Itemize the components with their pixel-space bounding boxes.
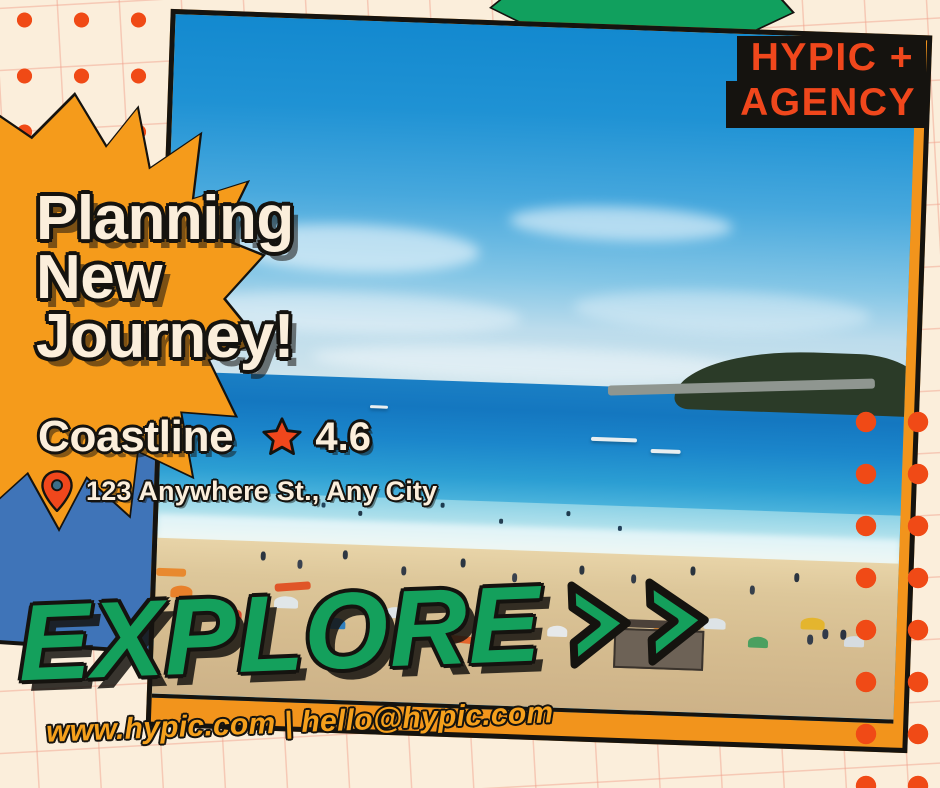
headline-line-1: Planning: [36, 190, 294, 249]
rating-value: 4.6: [315, 415, 371, 460]
explore-label: EXPLORE: [16, 569, 543, 697]
photo-person: [342, 551, 347, 560]
photo-person: [807, 635, 813, 645]
travel-poster: HYPIC + AGENCY Planning New Journey! Coa…: [0, 0, 940, 788]
address-row: 123 Anywhere St., Any City: [40, 470, 437, 512]
brand-logo-badge[interactable]: HYPIC + AGENCY: [726, 36, 926, 128]
headline-line-2: New: [36, 249, 294, 308]
chevron-group: [561, 574, 716, 672]
photo-person: [297, 559, 302, 568]
star-icon: [261, 416, 303, 458]
photo-person: [260, 551, 265, 560]
brand-line-1: HYPIC +: [737, 36, 926, 83]
photo-person: [822, 629, 828, 639]
photo-umbrella: [800, 618, 824, 631]
brand-line-2: AGENCY: [726, 81, 926, 128]
polka-dots-right: [838, 392, 940, 788]
page-title: Planning New Journey!: [36, 190, 294, 367]
address-text: 123 Anywhere St., Any City: [86, 476, 437, 507]
chevron-right-icon: [639, 574, 716, 669]
photo-swimmer: [566, 511, 570, 516]
place-rating-row: Coastline 4.6: [38, 412, 371, 462]
place-name: Coastline: [38, 412, 233, 462]
photo-person: [749, 585, 754, 594]
headline-line-3: Journey!: [36, 308, 294, 367]
chevron-right-icon: [561, 577, 638, 672]
rating-group: 4.6: [261, 415, 371, 460]
location-pin-icon: [40, 470, 74, 512]
photo-umbrella: [747, 636, 767, 648]
